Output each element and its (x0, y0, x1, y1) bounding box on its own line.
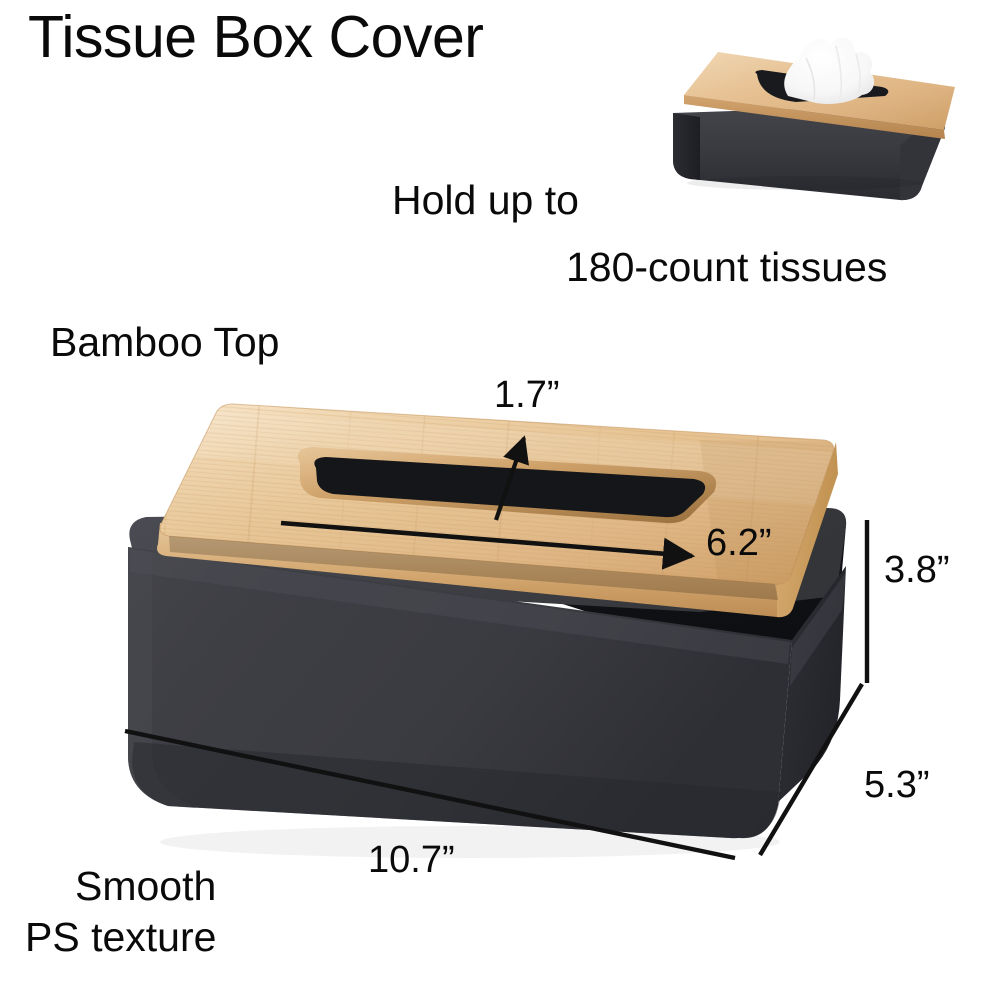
dimension-label-depth: 5.3” (864, 766, 929, 804)
texture-callout-line-2: PS texture (25, 917, 216, 958)
bamboo-top-callout: Bamboo Top (50, 322, 279, 363)
capacity-callout-line-2: 180-count tissues (566, 247, 887, 288)
dimension-label-slot-width: 1.7” (494, 376, 559, 414)
dimension-label-length: 10.7” (368, 841, 455, 879)
dimension-label-slot-length: 6.2” (706, 524, 771, 562)
dimension-label-height: 3.8” (884, 551, 949, 589)
capacity-callout-line-1: Hold up to (392, 180, 579, 221)
page-title: Tissue Box Cover (28, 8, 483, 67)
texture-callout-line-1: Smooth (75, 866, 216, 907)
infographic-canvas: Tissue Box Cover Hold up to 180-count ti… (0, 0, 990, 984)
hero-product-image (0, 0, 990, 984)
